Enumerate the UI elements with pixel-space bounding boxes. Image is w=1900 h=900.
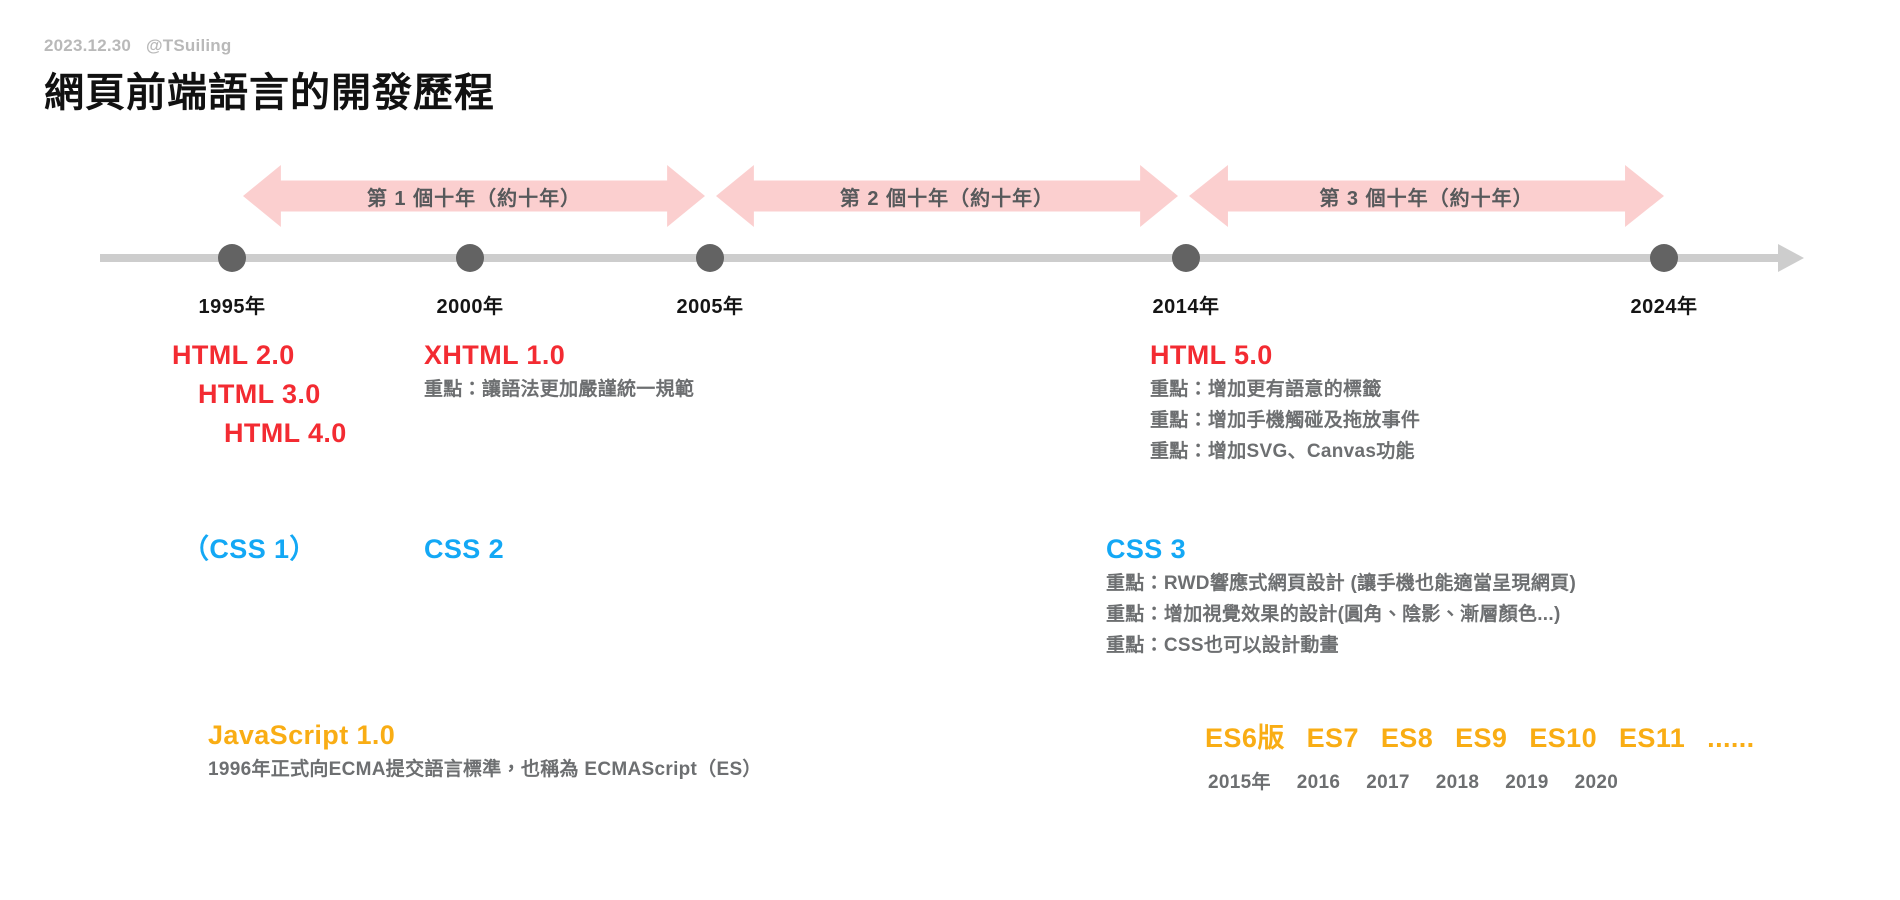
es-version-label: ES11	[1619, 723, 1685, 754]
entry-css3: CSS 3 重點：RWD響應式網頁設計 (讓手機也能適當呈現網頁) 重點：增加視…	[1106, 530, 1576, 661]
css2-title: CSS 2	[424, 530, 504, 569]
axis-line	[100, 254, 1780, 262]
timeline-node-2024	[1650, 244, 1678, 272]
entry-css2: CSS 2	[424, 530, 504, 569]
es-year-row: 2015年 2016 2017 2018 2019 2020	[1208, 767, 1618, 794]
timeline-node-2000	[456, 244, 484, 272]
entry-css1: （CSS 1）	[182, 530, 317, 569]
es-version-row: ES6版 ES7 ES8 ES9 ES10 ES11 ......	[1205, 716, 1755, 755]
decade-label: 第 3 個十年（約十年）	[1319, 182, 1533, 211]
es-version-label: ES10	[1529, 723, 1597, 754]
entry-html5: HTML 5.0 重點：增加更有語意的標籤 重點：增加手機觸碰及拖放事件 重點：…	[1150, 336, 1420, 467]
byline-handle: @TSuiling	[146, 36, 231, 55]
es-year-label: 2016	[1297, 772, 1340, 794]
decade-band: 第 1 個十年（約十年） 第 2 個十年（約十年） 第 3 個十年（約十年）	[0, 165, 1900, 227]
byline: 2023.12.30 @TSuiling	[44, 36, 231, 56]
axis-arrowhead-icon	[1778, 244, 1804, 272]
es-year-label: 2018	[1436, 772, 1479, 794]
infographic-canvas: 2023.12.30 @TSuiling 網頁前端語言的開發歷程 第 1 個十年…	[0, 0, 1900, 900]
timeline-year-label: 2005年	[677, 290, 744, 319]
css3-note: 重點：CSS也可以設計動畫	[1106, 631, 1576, 662]
html-version-label: HTML 3.0	[172, 375, 347, 414]
timeline-node-2005	[696, 244, 724, 272]
javascript-title: JavaScript 1.0	[208, 716, 762, 755]
decade-label: 第 1 個十年（約十年）	[367, 182, 581, 211]
decade-arrow-3: 第 3 個十年（約十年）	[1189, 165, 1664, 227]
decade-arrow-2: 第 2 個十年（約十年）	[716, 165, 1178, 227]
timeline-node-2014	[1172, 244, 1200, 272]
html-version-label: HTML 4.0	[172, 414, 347, 453]
html5-note: 重點：增加手機觸碰及拖放事件	[1150, 406, 1420, 437]
timeline-year-label: 2000年	[437, 290, 504, 319]
xhtml-title: XHTML 1.0	[424, 336, 694, 375]
css3-note: 重點：增加視覺效果的設計(圓角、陰影、漸層顏色...)	[1106, 600, 1576, 631]
html5-note: 重點：增加SVG、Canvas功能	[1150, 437, 1420, 468]
html-version-label: HTML 2.0	[172, 336, 347, 375]
entry-xhtml: XHTML 1.0 重點：讓語法更加嚴謹統一規範	[424, 336, 694, 406]
es-year-label: 2017	[1366, 772, 1409, 794]
es-version-label: ES7	[1307, 723, 1359, 754]
css3-note: 重點：RWD響應式網頁設計 (讓手機也能適當呈現網頁)	[1106, 569, 1576, 600]
css3-title: CSS 3	[1106, 530, 1576, 569]
es-version-label: ES8	[1381, 723, 1433, 754]
html-version-stack: HTML 2.0 HTML 3.0 HTML 4.0	[172, 336, 347, 453]
es-year-label: 2015年	[1208, 767, 1271, 794]
es-year-label: 2020	[1575, 772, 1618, 794]
timeline-node-1995	[218, 244, 246, 272]
timeline-year-label: 2014年	[1153, 290, 1220, 319]
page-title: 網頁前端語言的開發歷程	[44, 60, 495, 118]
decade-label: 第 2 個十年（約十年）	[840, 182, 1054, 211]
entry-javascript: JavaScript 1.0 1996年正式向ECMA提交語言標準，也稱為 EC…	[208, 716, 762, 786]
javascript-note: 1996年正式向ECMA提交語言標準，也稱為 ECMAScript（ES）	[208, 755, 762, 786]
html5-note: 重點：增加更有語意的標籤	[1150, 375, 1420, 406]
byline-date: 2023.12.30	[44, 36, 131, 55]
html5-title: HTML 5.0	[1150, 336, 1420, 375]
es-version-ellipsis: ......	[1707, 723, 1754, 754]
timeline-axis: 1995年 2000年 2005年 2014年 2024年	[0, 238, 1900, 278]
es-version-label: ES9	[1455, 723, 1507, 754]
timeline-year-label: 2024年	[1631, 290, 1698, 319]
es-version-label: ES6版	[1205, 716, 1285, 755]
es-year-label: 2019	[1505, 772, 1548, 794]
css1-title: （CSS 1）	[182, 530, 317, 569]
decade-arrow-1: 第 1 個十年（約十年）	[243, 165, 705, 227]
entry-html-early: HTML 2.0 HTML 3.0 HTML 4.0	[172, 336, 347, 453]
xhtml-note: 重點：讓語法更加嚴謹統一規範	[424, 375, 694, 406]
timeline-year-label: 1995年	[199, 290, 266, 319]
